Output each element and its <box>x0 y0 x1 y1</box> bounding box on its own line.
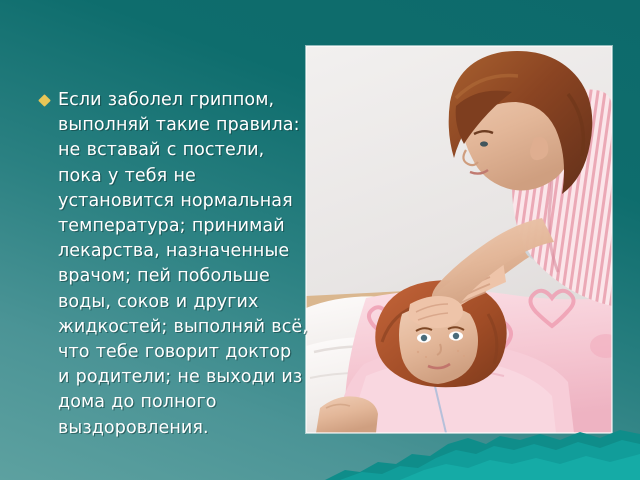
body-paragraph-text: Если заболел гриппом, выполняй такие пра… <box>58 88 308 441</box>
presentation-slide: Если заболел гриппом, выполняй такие пра… <box>0 0 640 480</box>
photo-mother-and-sick-child <box>306 46 612 433</box>
bullet-paragraph: Если заболел гриппом, выполняй такие пра… <box>40 88 308 441</box>
diamond-bullet-icon <box>38 94 51 107</box>
photo-illustration <box>306 46 612 433</box>
